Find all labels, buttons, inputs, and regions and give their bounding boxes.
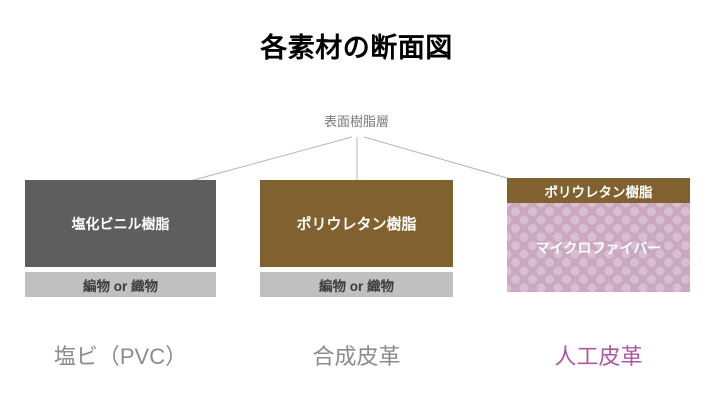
layer-label: 編物 or 織物 [83,275,158,295]
material-column-synthetic-leather: ポリウレタン樹脂 編物 or 織物 [260,180,453,297]
layer-surface-resin-artificial: ポリウレタン樹脂 [507,178,690,203]
layer-base-fabric-pvc: 編物 or 織物 [25,272,216,297]
leader-line-right [364,137,528,184]
callout-label-surface-resin: 表面樹脂層 [0,111,713,130]
material-column-artificial-leather: ポリウレタン樹脂 マイクロファイバー [507,178,690,292]
layer-label: マイクロファイバー [536,238,661,258]
material-column-pvc: 塩化ビニル樹脂 編物 or 織物 [25,180,216,297]
leader-line-left [190,137,352,181]
caption-synthetic-leather: 合成皮革 [260,339,453,371]
caption-pvc: 塩ビ（PVC） [25,339,216,371]
layer-label: ポリウレタン樹脂 [296,213,416,234]
layer-surface-resin-pvc: 塩化ビニル樹脂 [25,180,216,267]
layer-microfiber-artificial: マイクロファイバー [507,203,690,292]
layer-label: 編物 or 織物 [319,275,394,295]
layer-base-fabric-synthetic: 編物 or 織物 [260,272,453,297]
page-title: 各素材の断面図 [0,26,713,65]
layer-surface-resin-synthetic: ポリウレタン樹脂 [260,180,453,267]
layer-label: ポリウレタン樹脂 [545,181,653,201]
caption-artificial-leather: 人工皮革 [507,339,690,371]
layer-label: 塩化ビニル樹脂 [72,214,170,234]
